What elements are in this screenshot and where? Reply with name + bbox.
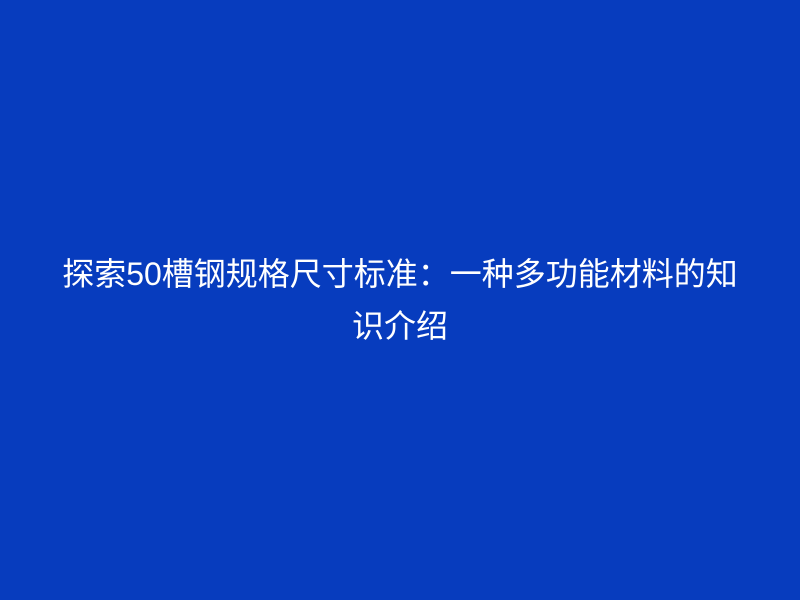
headline-block: 探索50槽钢规格尺寸标准：一种多功能材料的知识介绍 [0,248,800,352]
page-title: 探索50槽钢规格尺寸标准：一种多功能材料的知识介绍 [50,248,750,352]
title-card: 探索50槽钢规格尺寸标准：一种多功能材料的知识介绍 [0,0,800,600]
